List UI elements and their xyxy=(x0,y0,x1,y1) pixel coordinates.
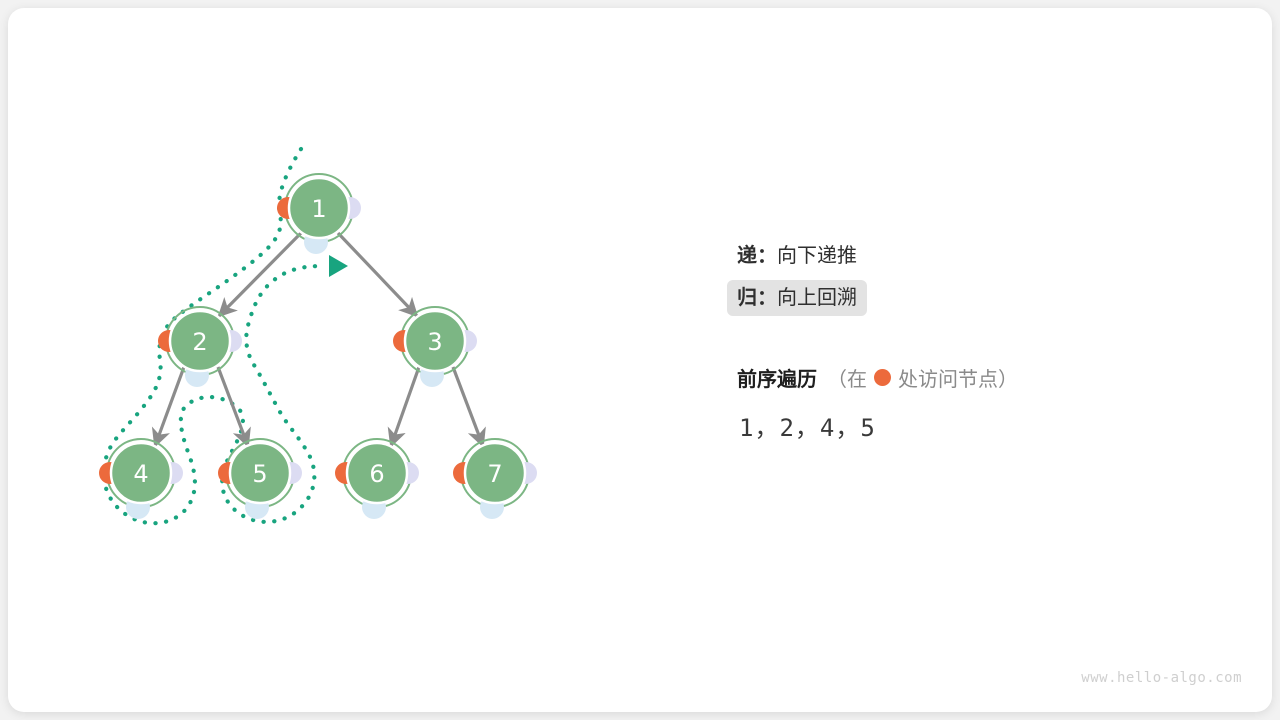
watermark: www.hello-algo.com xyxy=(1081,670,1242,686)
legend-line-return: 归：向上回溯 xyxy=(727,280,867,316)
traversal-title-before: （在 xyxy=(817,363,867,392)
legend-return-text: 向上回溯 xyxy=(777,287,857,309)
traversal-title-after: 处访问节点） xyxy=(898,363,1018,392)
legend-descend-lead: 递： xyxy=(737,245,777,267)
traversal-title: 前序遍历 （在 处访问节点） xyxy=(727,363,1247,392)
recursion-arrowhead-icon xyxy=(329,255,348,277)
edge-3-6 xyxy=(391,367,419,446)
legend-descend-text: 向下递推 xyxy=(777,245,857,267)
binary-tree-diagram: 1234567 xyxy=(8,8,1272,712)
tree-node-6: 6 xyxy=(335,439,419,519)
legend-return-lead: 归： xyxy=(737,287,777,309)
traversal-block: 前序遍历 （在 处访问节点） 1，2，4，5 xyxy=(727,363,1247,443)
edge-1-3 xyxy=(338,233,417,316)
node-label: 5 xyxy=(252,460,267,488)
node-label: 2 xyxy=(192,328,207,356)
tree-node-7: 7 xyxy=(453,439,537,519)
tree-node-3: 3 xyxy=(393,307,477,387)
recursion-legend: 递：向下递推 归：向上回溯 xyxy=(727,238,1207,316)
traversal-title-strong: 前序遍历 xyxy=(727,363,817,392)
node-label: 7 xyxy=(487,460,502,488)
traversal-sequence: 1，2，4，5 xyxy=(727,408,1247,443)
diagram-card: 1234567 递：向下递推 归：向上回溯 前序遍历 （在 处访问节点） 1，2… xyxy=(8,8,1272,712)
node-label: 1 xyxy=(311,195,326,223)
node-label: 4 xyxy=(133,460,148,488)
edge-3-7 xyxy=(453,367,483,446)
node-label: 3 xyxy=(427,328,442,356)
tree-node-4: 4 xyxy=(99,439,183,519)
edge-1-2 xyxy=(219,233,301,316)
visit-dot-icon xyxy=(874,369,891,386)
node-label: 6 xyxy=(369,460,384,488)
edge-2-5 xyxy=(218,367,248,446)
tree-nodes: 1234567 xyxy=(99,174,537,519)
legend-line-descend: 递：向下递推 xyxy=(727,238,867,274)
tree-node-2: 2 xyxy=(158,307,242,387)
